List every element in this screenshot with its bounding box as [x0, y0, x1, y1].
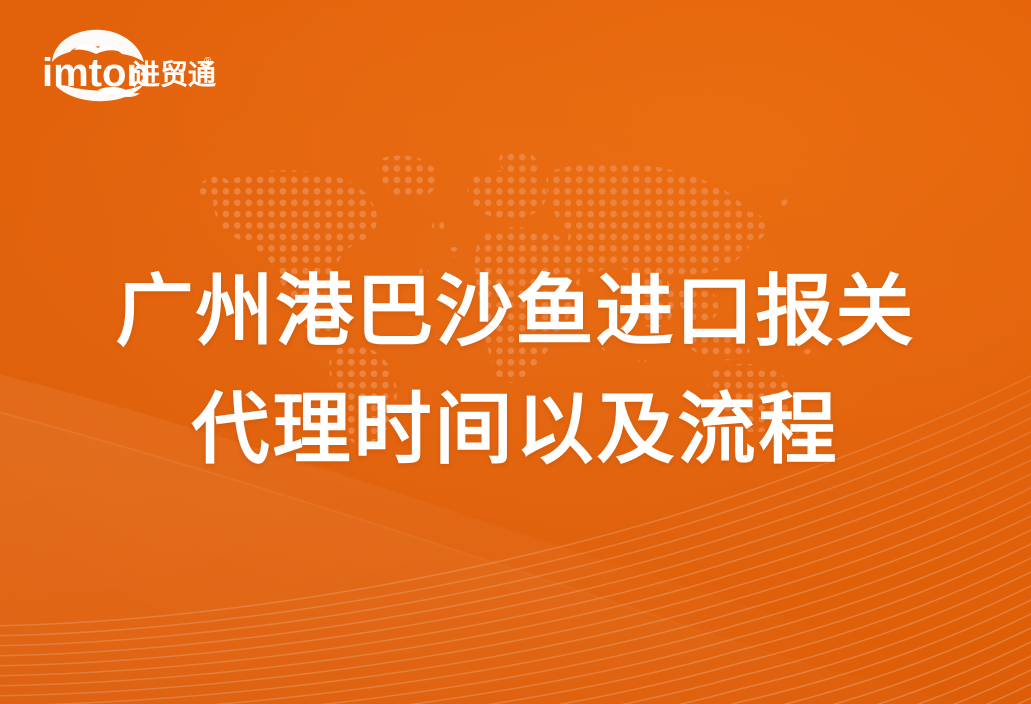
- title-line-2: 代理时间以及流程: [0, 370, 1031, 488]
- page-title: 广州港巴沙鱼进口报关 代理时间以及流程: [0, 252, 1031, 488]
- brand-logo[interactable]: imton 进贸通 ®: [40, 24, 220, 104]
- promo-banner: imton 进贸通 ® 广州港巴沙鱼进口报关 代理时间以及流程: [0, 0, 1031, 704]
- logo-trademark-icon: ®: [204, 56, 212, 67]
- title-line-1: 广州港巴沙鱼进口报关: [0, 252, 1031, 370]
